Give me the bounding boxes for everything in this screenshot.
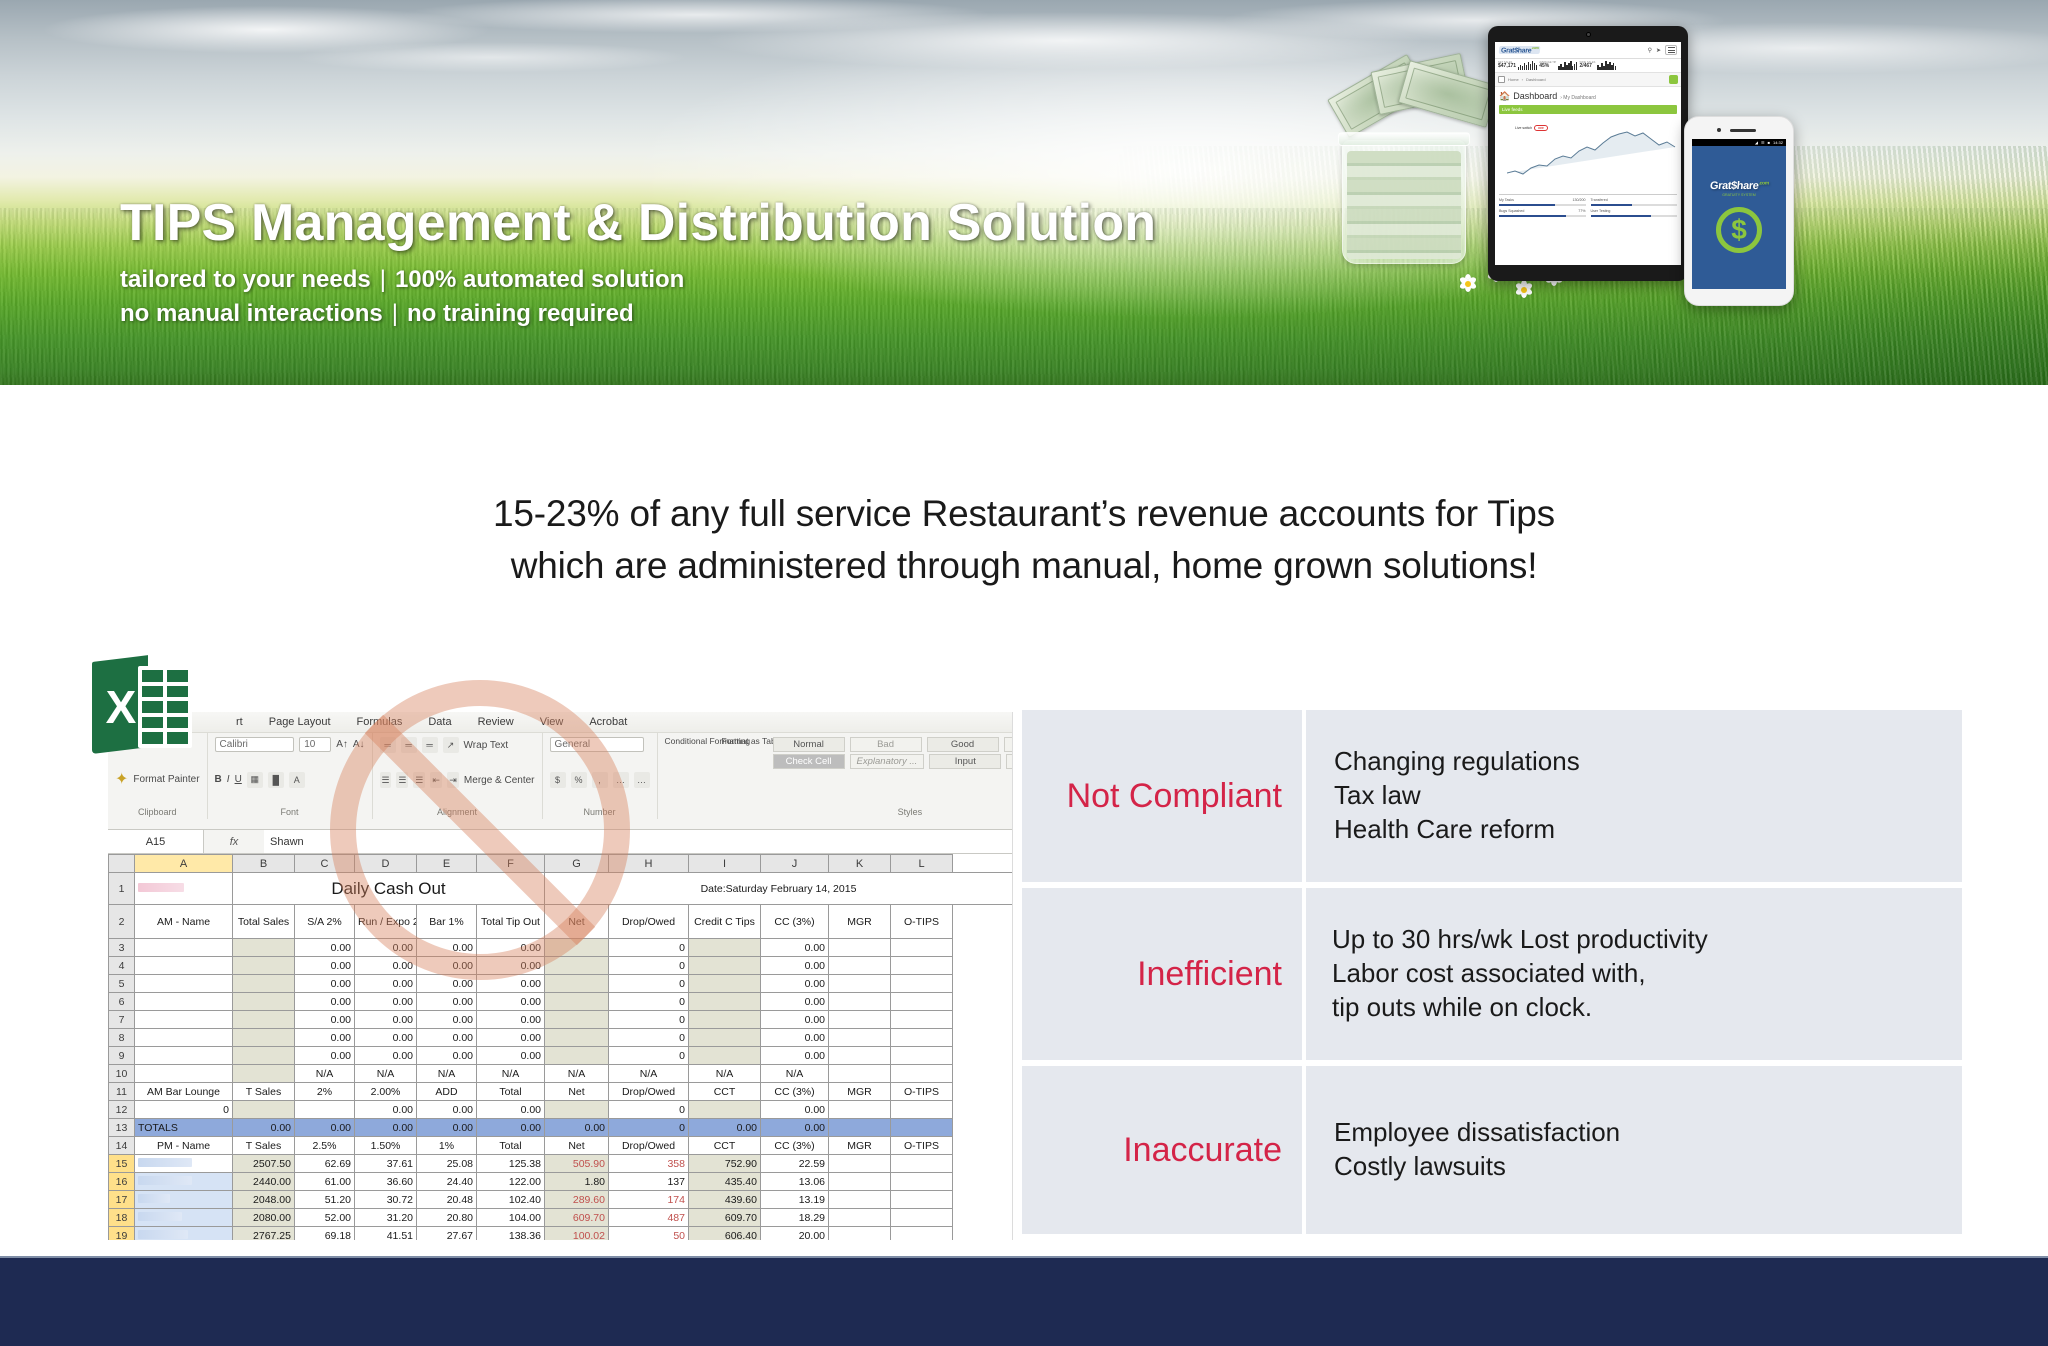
cell[interactable] — [545, 957, 609, 975]
col-sa-2pct[interactable]: S/A 2% — [295, 905, 355, 939]
cell[interactable]: N/A — [417, 1065, 477, 1083]
cell[interactable] — [233, 1065, 295, 1083]
row-header[interactable]: 17 — [109, 1191, 135, 1209]
cell[interactable]: 22.59 — [761, 1155, 829, 1173]
ribbon-tab-page-layout[interactable]: Page Layout — [269, 716, 331, 728]
row-header[interactable]: 14 — [109, 1137, 135, 1155]
cell[interactable]: 24.40 — [417, 1173, 477, 1191]
table-totals-row[interactable]: 13 TOTALS 0.00 0.00 0.00 0.00 0.00 0.00 … — [109, 1119, 1013, 1137]
row-header[interactable]: 7 — [109, 1011, 135, 1029]
cell[interactable] — [891, 1119, 953, 1137]
cell[interactable] — [545, 1011, 609, 1029]
align-right-icon[interactable]: ☰ — [413, 772, 425, 788]
cell[interactable]: 122.00 — [477, 1173, 545, 1191]
align-top-icon[interactable]: ═ — [380, 737, 396, 753]
table-row[interactable]: 152507.5062.6937.6125.08125.38505.903587… — [109, 1155, 1013, 1173]
cell[interactable] — [891, 1101, 953, 1119]
col-cc-3pct[interactable]: CC (3%) — [761, 905, 829, 939]
cell[interactable] — [135, 975, 233, 993]
cell[interactable] — [135, 993, 233, 1011]
cell[interactable]: 358 — [609, 1155, 689, 1173]
cell[interactable] — [891, 1155, 953, 1173]
cell[interactable]: 609.70 — [545, 1209, 609, 1227]
font-color-icon[interactable]: A — [289, 772, 305, 788]
col-total-sales[interactable]: Total Sales — [233, 905, 295, 939]
cell[interactable]: 2440.00 — [233, 1173, 295, 1191]
cell[interactable] — [891, 1191, 953, 1209]
ribbon-tab-acrobat[interactable]: Acrobat — [589, 716, 627, 728]
cell[interactable] — [829, 1155, 891, 1173]
cell[interactable]: 0.00 — [417, 957, 477, 975]
cell[interactable]: 0.00 — [417, 975, 477, 993]
cell[interactable]: N/A — [609, 1065, 689, 1083]
col-drop-owed[interactable]: Drop/Owed — [609, 905, 689, 939]
row-header[interactable]: 3 — [109, 939, 135, 957]
cell[interactable]: 0.00 — [355, 993, 417, 1011]
cell[interactable] — [135, 939, 233, 957]
col-am-name[interactable]: AM - Name — [135, 905, 233, 939]
cell[interactable] — [829, 939, 891, 957]
cell[interactable]: 0.00 — [761, 993, 829, 1011]
table-header-row-pm[interactable]: 14 PM - Name T Sales 2.5% 1.50% 1% Total… — [109, 1137, 1013, 1155]
col-1pct[interactable]: 1% — [417, 1137, 477, 1155]
cell[interactable]: N/A — [761, 1065, 829, 1083]
row-header[interactable]: 1 — [109, 873, 135, 905]
cell[interactable]: 52.00 — [295, 1209, 355, 1227]
cell[interactable] — [829, 975, 891, 993]
cell[interactable]: 0.00 — [761, 1047, 829, 1065]
cell-style-explanatory[interactable]: Explanatory ... — [850, 754, 925, 769]
cell-style-input[interactable]: Input — [929, 754, 1001, 769]
cell[interactable] — [829, 957, 891, 975]
cell[interactable]: 0.00 — [761, 939, 829, 957]
cell[interactable]: 0.00 — [417, 1101, 477, 1119]
cell[interactable] — [689, 957, 761, 975]
cell[interactable]: 0.00 — [417, 1011, 477, 1029]
cell[interactable] — [891, 957, 953, 975]
col-cc-3pct[interactable]: CC (3%) — [761, 1083, 829, 1101]
format-painter-button[interactable]: Format Painter — [133, 774, 199, 785]
ribbon-tab-insert[interactable]: rt — [236, 716, 243, 728]
cell[interactable]: 0 — [609, 1101, 689, 1119]
column-header-k[interactable]: K — [829, 855, 891, 873]
cell[interactable]: 606.40 — [689, 1227, 761, 1241]
conditional-formatting-button[interactable]: Conditional Formatting — [665, 737, 717, 746]
column-header-h[interactable]: H — [609, 855, 689, 873]
cell[interactable] — [689, 1047, 761, 1065]
cell[interactable] — [829, 1173, 891, 1191]
italic-button[interactable]: I — [227, 774, 230, 785]
cell-style-good[interactable]: Good — [927, 737, 999, 752]
column-header-j[interactable]: J — [761, 855, 829, 873]
cell[interactable] — [891, 975, 953, 993]
cell[interactable] — [545, 975, 609, 993]
borders-icon[interactable]: ▦ — [247, 772, 263, 788]
cell[interactable]: 0.00 — [761, 975, 829, 993]
cell[interactable]: 0.00 — [355, 1029, 417, 1047]
cell[interactable]: 0.00 — [761, 957, 829, 975]
col-cct[interactable]: CCT — [689, 1137, 761, 1155]
cell-employee-name[interactable] — [135, 1209, 233, 1227]
cell[interactable] — [891, 939, 953, 957]
cell[interactable] — [233, 993, 295, 1011]
cell[interactable]: 2767.25 — [233, 1227, 295, 1241]
cell[interactable]: 104.00 — [477, 1209, 545, 1227]
fill-color-icon[interactable]: █ — [268, 772, 284, 788]
cell[interactable] — [829, 1119, 891, 1137]
currency-icon[interactable]: $ — [550, 772, 566, 788]
cell[interactable]: N/A — [355, 1065, 417, 1083]
decrease-font-icon[interactable]: A↓ — [353, 739, 365, 750]
cell-totals-label[interactable]: TOTALS — [135, 1119, 233, 1137]
cell[interactable] — [891, 1227, 953, 1241]
col-150pct[interactable]: 1.50% — [355, 1137, 417, 1155]
decrease-decimal-icon[interactable]: … — [634, 772, 650, 788]
cell[interactable] — [135, 1011, 233, 1029]
font-size-select[interactable]: 10 — [299, 737, 331, 752]
table-row[interactable]: 80.000.000.000.0000.00 — [109, 1029, 1013, 1047]
cell[interactable] — [135, 1065, 233, 1083]
cell[interactable]: 0.00 — [295, 993, 355, 1011]
ribbon-tab-formulas[interactable]: Formulas — [357, 716, 403, 728]
cell[interactable]: 0.00 — [417, 1119, 477, 1137]
cell[interactable]: 0.00 — [295, 1011, 355, 1029]
ribbon-tab-review[interactable]: Review — [478, 716, 514, 728]
table-row[interactable]: 1 Daily Cash Out Date:Saturday February … — [109, 873, 1013, 905]
cell[interactable]: 138.36 — [477, 1227, 545, 1241]
column-header-c[interactable]: C — [295, 855, 355, 873]
cell[interactable]: 0.00 — [477, 1029, 545, 1047]
increase-font-icon[interactable]: A↑ — [336, 739, 348, 750]
cell[interactable]: 0.00 — [477, 1047, 545, 1065]
ribbon-tab-data[interactable]: Data — [428, 716, 451, 728]
col-25pct[interactable]: 2.5% — [295, 1137, 355, 1155]
row-header[interactable]: 15 — [109, 1155, 135, 1173]
cell-employee-name[interactable] — [135, 1227, 233, 1241]
row-header[interactable]: 19 — [109, 1227, 135, 1241]
cell[interactable]: 13.06 — [761, 1173, 829, 1191]
align-bottom-icon[interactable]: ═ — [422, 737, 438, 753]
formula-input[interactable]: Shawn — [264, 830, 1012, 853]
column-header-l[interactable]: L — [891, 855, 953, 873]
cell-sheet-title[interactable]: Daily Cash Out — [233, 873, 545, 905]
col-o-tips[interactable]: O-TIPS — [891, 1083, 953, 1101]
increase-decimal-icon[interactable]: … — [613, 772, 629, 788]
col-total-tip-out[interactable]: Total Tip Out — [477, 905, 545, 939]
cell-employee-name[interactable] — [135, 1173, 233, 1191]
ribbon-tab-view[interactable]: View — [540, 716, 564, 728]
cell[interactable]: 37.61 — [355, 1155, 417, 1173]
row-header[interactable]: 4 — [109, 957, 135, 975]
select-all-corner[interactable] — [109, 855, 135, 873]
cell[interactable]: 0 — [609, 1119, 689, 1137]
cell[interactable]: 0.00 — [761, 1119, 829, 1137]
cell[interactable]: 18.29 — [761, 1209, 829, 1227]
row-header[interactable]: 13 — [109, 1119, 135, 1137]
cell[interactable]: 0 — [609, 957, 689, 975]
fx-icon[interactable]: fx — [204, 836, 264, 848]
cell[interactable]: 0.00 — [233, 1119, 295, 1137]
cell[interactable] — [135, 957, 233, 975]
cell[interactable]: 27.67 — [417, 1227, 477, 1241]
cell[interactable]: 2048.00 — [233, 1191, 295, 1209]
table-header-row-am[interactable]: 2 AM - Name Total Sales S/A 2% Run / Exp… — [109, 905, 1013, 939]
column-header-a[interactable]: A — [135, 855, 233, 873]
cell[interactable]: 0.00 — [355, 957, 417, 975]
cell[interactable]: 487 — [609, 1209, 689, 1227]
cell[interactable]: 13.19 — [761, 1191, 829, 1209]
align-center-icon[interactable]: ☰ — [396, 772, 408, 788]
cell[interactable]: 0.00 — [295, 957, 355, 975]
table-row[interactable]: 192767.2569.1841.5127.67138.36100.025060… — [109, 1227, 1013, 1241]
cell[interactable]: 20.00 — [761, 1227, 829, 1241]
decrease-indent-icon[interactable]: ⇤ — [430, 772, 442, 788]
cell[interactable]: 0.00 — [761, 1101, 829, 1119]
cell[interactable]: 0 — [609, 939, 689, 957]
cell[interactable] — [829, 993, 891, 1011]
cell[interactable]: 0.00 — [355, 1119, 417, 1137]
cell[interactable] — [829, 1011, 891, 1029]
cell[interactable] — [135, 1029, 233, 1047]
cell[interactable]: 752.90 — [689, 1155, 761, 1173]
cell[interactable]: 0 — [609, 975, 689, 993]
cell[interactable]: 2080.00 — [233, 1209, 295, 1227]
row-header[interactable]: 9 — [109, 1047, 135, 1065]
cell[interactable]: 0.00 — [355, 1047, 417, 1065]
row-header[interactable]: 18 — [109, 1209, 135, 1227]
name-box[interactable]: A15 — [108, 830, 204, 853]
cell[interactable] — [689, 1029, 761, 1047]
breadcrumb-home[interactable]: Home — [1508, 77, 1519, 82]
cell[interactable] — [829, 1065, 891, 1083]
cell[interactable]: 0.00 — [477, 957, 545, 975]
cell[interactable]: 20.48 — [417, 1191, 477, 1209]
col-o-tips[interactable]: O-TIPS — [891, 905, 953, 939]
cell-style-normal[interactable]: Normal — [773, 737, 845, 752]
cell[interactable] — [135, 1047, 233, 1065]
orientation-icon[interactable]: ↗ — [443, 737, 459, 753]
cell[interactable] — [545, 1047, 609, 1065]
col-pm-name[interactable]: PM - Name — [135, 1137, 233, 1155]
cell[interactable] — [689, 975, 761, 993]
cell[interactable]: 0.00 — [477, 1101, 545, 1119]
col-mgr[interactable]: MGR — [829, 1083, 891, 1101]
increase-indent-icon[interactable]: ⇥ — [447, 772, 459, 788]
col-net[interactable]: Net — [545, 905, 609, 939]
column-header-g[interactable]: G — [545, 855, 609, 873]
cell[interactable]: 125.38 — [477, 1155, 545, 1173]
cell[interactable]: 36.60 — [355, 1173, 417, 1191]
cell[interactable] — [233, 975, 295, 993]
search-icon[interactable]: ⚲ — [1648, 47, 1652, 54]
merge-center-button[interactable]: Merge & Center — [464, 775, 535, 786]
table-row[interactable]: 162440.0061.0036.6024.40122.001.80137435… — [109, 1173, 1013, 1191]
cell[interactable]: N/A — [295, 1065, 355, 1083]
table-row[interactable]: 60.000.000.000.0000.00 — [109, 993, 1013, 1011]
cell[interactable] — [295, 1101, 355, 1119]
cell[interactable]: 0.00 — [477, 939, 545, 957]
cell[interactable]: 0.00 — [295, 1047, 355, 1065]
cell[interactable]: 0.00 — [355, 1011, 417, 1029]
cell[interactable]: 0.00 — [355, 1101, 417, 1119]
percent-icon[interactable]: % — [571, 772, 587, 788]
cell[interactable] — [545, 1101, 609, 1119]
cell[interactable]: 0.00 — [761, 1011, 829, 1029]
row-header[interactable]: 16 — [109, 1173, 135, 1191]
col-2pct[interactable]: 2% — [295, 1083, 355, 1101]
cell[interactable]: 30.72 — [355, 1191, 417, 1209]
cell[interactable] — [829, 1101, 891, 1119]
cell[interactable]: 41.51 — [355, 1227, 417, 1241]
pin-icon[interactable]: ➤ — [1656, 47, 1661, 54]
cell[interactable]: 0.00 — [355, 975, 417, 993]
cell[interactable] — [689, 1011, 761, 1029]
cell-style-bad[interactable]: Bad — [850, 737, 922, 752]
cell[interactable] — [545, 1029, 609, 1047]
format-as-table-button[interactable]: Format as Table — [722, 737, 768, 746]
cell-a1[interactable] — [135, 873, 233, 905]
column-header-e[interactable]: E — [417, 855, 477, 873]
cell[interactable]: 1.80 — [545, 1173, 609, 1191]
col-drop-owed[interactable]: Drop/Owed — [609, 1083, 689, 1101]
cell[interactable]: 0.00 — [761, 1029, 829, 1047]
cell[interactable] — [545, 993, 609, 1011]
cell[interactable]: 62.69 — [295, 1155, 355, 1173]
cell[interactable] — [829, 1209, 891, 1227]
column-header-b[interactable]: B — [233, 855, 295, 873]
hamburger-menu-icon[interactable] — [1665, 45, 1677, 55]
cell-style-check-cell[interactable]: Check Cell — [773, 754, 845, 769]
cell[interactable]: 0.00 — [545, 1119, 609, 1137]
cell[interactable] — [891, 1209, 953, 1227]
col-drop-owed[interactable]: Drop/Owed — [609, 1137, 689, 1155]
col-run-expo-2pct[interactable]: Run / Expo 2% — [355, 905, 417, 939]
cell[interactable]: 2507.50 — [233, 1155, 295, 1173]
cell[interactable] — [891, 1047, 953, 1065]
cell[interactable] — [545, 939, 609, 957]
table-row[interactable]: 70.000.000.000.0000.00 — [109, 1011, 1013, 1029]
row-header[interactable]: 8 — [109, 1029, 135, 1047]
cell[interactable]: 0.00 — [417, 1047, 477, 1065]
cell[interactable]: 0.00 — [295, 975, 355, 993]
wrap-text-button[interactable]: Wrap Text — [464, 740, 509, 751]
row-header[interactable]: 11 — [109, 1083, 135, 1101]
cell[interactable]: 100.02 — [545, 1227, 609, 1241]
cell[interactable]: N/A — [477, 1065, 545, 1083]
cell[interactable]: 137 — [609, 1173, 689, 1191]
col-mgr[interactable]: MGR — [829, 1137, 891, 1155]
cell[interactable]: 102.40 — [477, 1191, 545, 1209]
cell[interactable] — [891, 993, 953, 1011]
cell[interactable]: N/A — [545, 1065, 609, 1083]
table-row[interactable]: 182080.0052.0031.2020.80104.00609.704876… — [109, 1209, 1013, 1227]
cell[interactable] — [689, 1101, 761, 1119]
cell[interactable]: 20.80 — [417, 1209, 477, 1227]
column-header-f[interactable]: F — [477, 855, 545, 873]
cell[interactable] — [233, 1047, 295, 1065]
cell[interactable]: 0.00 — [355, 939, 417, 957]
cell[interactable]: 435.40 — [689, 1173, 761, 1191]
cell[interactable]: 439.60 — [689, 1191, 761, 1209]
row-header[interactable]: 6 — [109, 993, 135, 1011]
cell[interactable] — [233, 957, 295, 975]
table-header-row-bar[interactable]: 11 AM Bar Lounge T Sales 2% 2.00% ADD To… — [109, 1083, 1013, 1101]
cell-sheet-date[interactable]: Date:Saturday February 14, 2015 — [545, 873, 1013, 905]
format-painter-icon[interactable]: ✦ — [115, 769, 128, 789]
cell[interactable]: 0.00 — [477, 1119, 545, 1137]
cell-employee-name[interactable] — [135, 1191, 233, 1209]
align-middle-icon[interactable]: ═ — [401, 737, 417, 753]
number-format-select[interactable]: General — [550, 737, 644, 752]
cell[interactable]: 0.00 — [477, 993, 545, 1011]
col-credit-c-tips[interactable]: Credit C Tips — [689, 905, 761, 939]
column-header-d[interactable]: D — [355, 855, 417, 873]
underline-button[interactable]: U — [235, 774, 242, 785]
cell[interactable]: 0.00 — [477, 975, 545, 993]
cell[interactable]: 0.00 — [477, 1011, 545, 1029]
cell[interactable]: 0.00 — [417, 1029, 477, 1047]
col-t-sales[interactable]: T Sales — [233, 1137, 295, 1155]
col-net[interactable]: Net — [545, 1083, 609, 1101]
table-row[interactable]: 50.000.000.000.0000.00 — [109, 975, 1013, 993]
col-total[interactable]: Total — [477, 1083, 545, 1101]
cell-style-linked-cell[interactable]: Linked Cell — [1006, 754, 1013, 769]
table-row[interactable]: 90.000.000.000.0000.00 — [109, 1047, 1013, 1065]
col-net[interactable]: Net — [545, 1137, 609, 1155]
col-cc-3pct[interactable]: CC (3%) — [761, 1137, 829, 1155]
bold-button[interactable]: B — [215, 774, 222, 785]
comma-icon[interactable]: , — [592, 772, 608, 788]
row-header[interactable]: 12 — [109, 1101, 135, 1119]
cell[interactable] — [233, 1029, 295, 1047]
cell[interactable]: 0 — [135, 1101, 233, 1119]
cell[interactable] — [233, 939, 295, 957]
cell[interactable] — [829, 1191, 891, 1209]
font-name-select[interactable]: Calibri — [215, 737, 295, 752]
col-200pct[interactable]: 2.00% — [355, 1083, 417, 1101]
cell[interactable]: 61.00 — [295, 1173, 355, 1191]
table-row[interactable]: 40.000.000.000.0000.00 — [109, 957, 1013, 975]
cell[interactable]: 174 — [609, 1191, 689, 1209]
gear-icon[interactable] — [1669, 75, 1678, 84]
table-row[interactable]: 10N/AN/AN/AN/AN/AN/AN/AN/A — [109, 1065, 1013, 1083]
row-header[interactable]: 5 — [109, 975, 135, 993]
cell[interactable] — [829, 1227, 891, 1241]
row-header[interactable]: 2 — [109, 905, 135, 939]
cell[interactable]: 0 — [609, 993, 689, 1011]
cell[interactable]: 0.00 — [417, 939, 477, 957]
cell[interactable] — [233, 1101, 295, 1119]
col-am-bar-lounge[interactable]: AM Bar Lounge — [135, 1083, 233, 1101]
cell[interactable] — [233, 1011, 295, 1029]
table-row[interactable]: 12 0 0.00 0.00 0.00 0 0.00 — [109, 1101, 1013, 1119]
table-row[interactable]: 30.000.000.000.0000.00 — [109, 939, 1013, 957]
table-row[interactable]: 172048.0051.2030.7220.48102.40289.601744… — [109, 1191, 1013, 1209]
col-mgr[interactable]: MGR — [829, 905, 891, 939]
cell[interactable] — [689, 993, 761, 1011]
row-header[interactable]: 10 — [109, 1065, 135, 1083]
cell[interactable]: 0.00 — [295, 939, 355, 957]
cell[interactable]: 0.00 — [295, 1029, 355, 1047]
cell[interactable] — [829, 1047, 891, 1065]
spreadsheet-grid[interactable]: A B C D E F G H I J K L 1 Daily Cash Out… — [108, 854, 1013, 1240]
cell[interactable]: 0.00 — [417, 993, 477, 1011]
col-cct[interactable]: CCT — [689, 1083, 761, 1101]
cell[interactable] — [829, 1029, 891, 1047]
col-o-tips[interactable]: O-TIPS — [891, 1137, 953, 1155]
cell[interactable] — [891, 1065, 953, 1083]
cell[interactable]: 31.20 — [355, 1209, 417, 1227]
